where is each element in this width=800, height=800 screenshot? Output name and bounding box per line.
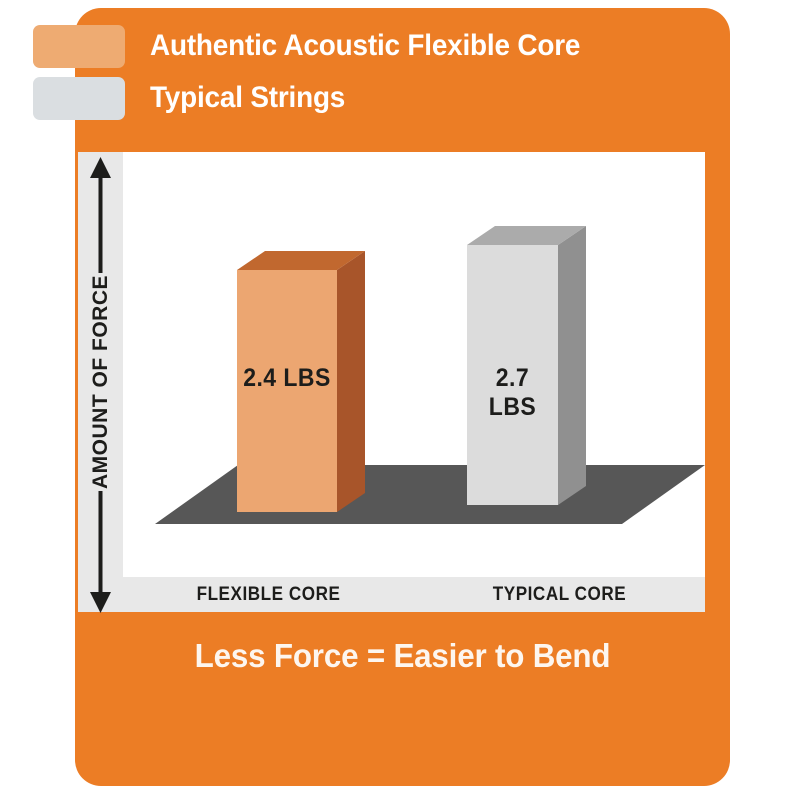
infographic-root: Authentic Acoustic Flexible Core Typical… — [0, 0, 800, 800]
chart-plot-area: 2.4 LBS 2.7 LBS — [123, 152, 705, 577]
legend-swatch-typical-strings — [33, 77, 125, 120]
legend-item-flexible-core: Authentic Acoustic Flexible Core — [33, 20, 633, 72]
legend-label-typical-strings: Typical Strings — [150, 81, 345, 115]
double-arrow-icon — [78, 156, 123, 614]
legend-item-typical-strings: Typical Strings — [33, 72, 633, 124]
x-axis-category-strip: FLEXIBLE CORE TYPICAL CORE — [123, 577, 705, 612]
caption-text: Less Force = Easier to Bend — [91, 637, 713, 675]
x-axis-label-typical-core: TYPICAL CORE — [429, 577, 691, 612]
bar-value-typical-core: 2.7 LBS — [471, 364, 555, 422]
x-axis-label-flexible-core: FLEXIBLE CORE — [138, 577, 400, 612]
bar-typical-core: 2.7 LBS — [123, 152, 705, 577]
legend-swatch-flexible-core — [33, 25, 125, 68]
chart-legend: Authentic Acoustic Flexible Core Typical… — [33, 20, 633, 124]
legend-label-flexible-core: Authentic Acoustic Flexible Core — [150, 29, 580, 63]
